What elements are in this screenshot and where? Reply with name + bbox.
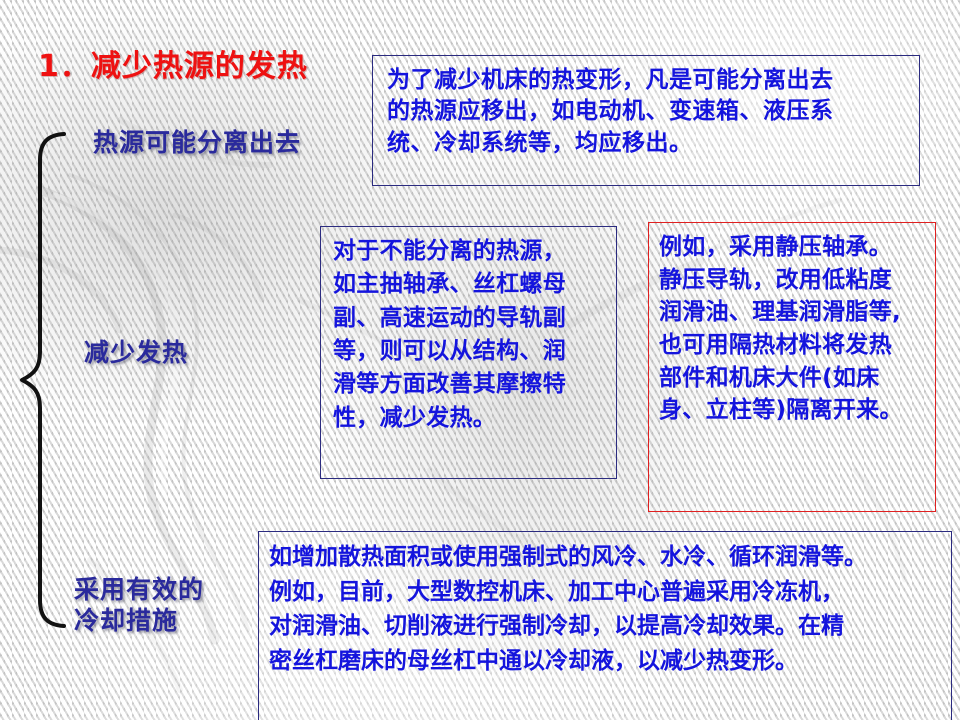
branch-label-cooling: 采用有效的 冷却措施 — [74, 575, 204, 636]
content-box-cooling: 如增加散热面积或使用强制式的风冷、水冷、循环润滑等。 例如，目前，大型数控机床、… — [258, 531, 952, 720]
branch-label-reduce: 减少发热 — [84, 338, 188, 369]
content-box-friction: 对于不能分离的热源， 如主抽轴承、丝杠螺母 副、高速运动的导轨副 等，则可以从结… — [320, 226, 617, 479]
slide-canvas: 1．减少热源的发热 热源可能分离出去 减少发热 采用有效的 冷却措施 为了减少机… — [0, 0, 960, 720]
content-box-relocate-text: 为了减少机床的热变形，凡是可能分离出去 的热源应移出，如电动机、变速箱、液压系 … — [387, 65, 907, 159]
content-box-insulate-text: 例如，采用静压轴承。 静压导轨，改用低粘度 润滑油、理基润滑脂等, 也可用隔热材… — [659, 231, 929, 427]
content-box-relocate: 为了减少机床的热变形，凡是可能分离出去 的热源应移出，如电动机、变速箱、液压系 … — [372, 55, 920, 186]
curly-brace-icon — [18, 130, 78, 630]
branch-label-separate: 热源可能分离出去 — [93, 128, 301, 159]
slide-title: 1．减少热源的发热 — [38, 41, 308, 85]
content-box-insulate: 例如，采用静压轴承。 静压导轨，改用低粘度 润滑油、理基润滑脂等, 也可用隔热材… — [648, 222, 936, 512]
content-box-cooling-text: 如增加散热面积或使用强制式的风冷、水冷、循环润滑等。 例如，目前，大型数控机床、… — [269, 540, 943, 678]
content-box-friction-text: 对于不能分离的热源， 如主抽轴承、丝杠螺母 副、高速运动的导轨副 等，则可以从结… — [333, 235, 610, 435]
